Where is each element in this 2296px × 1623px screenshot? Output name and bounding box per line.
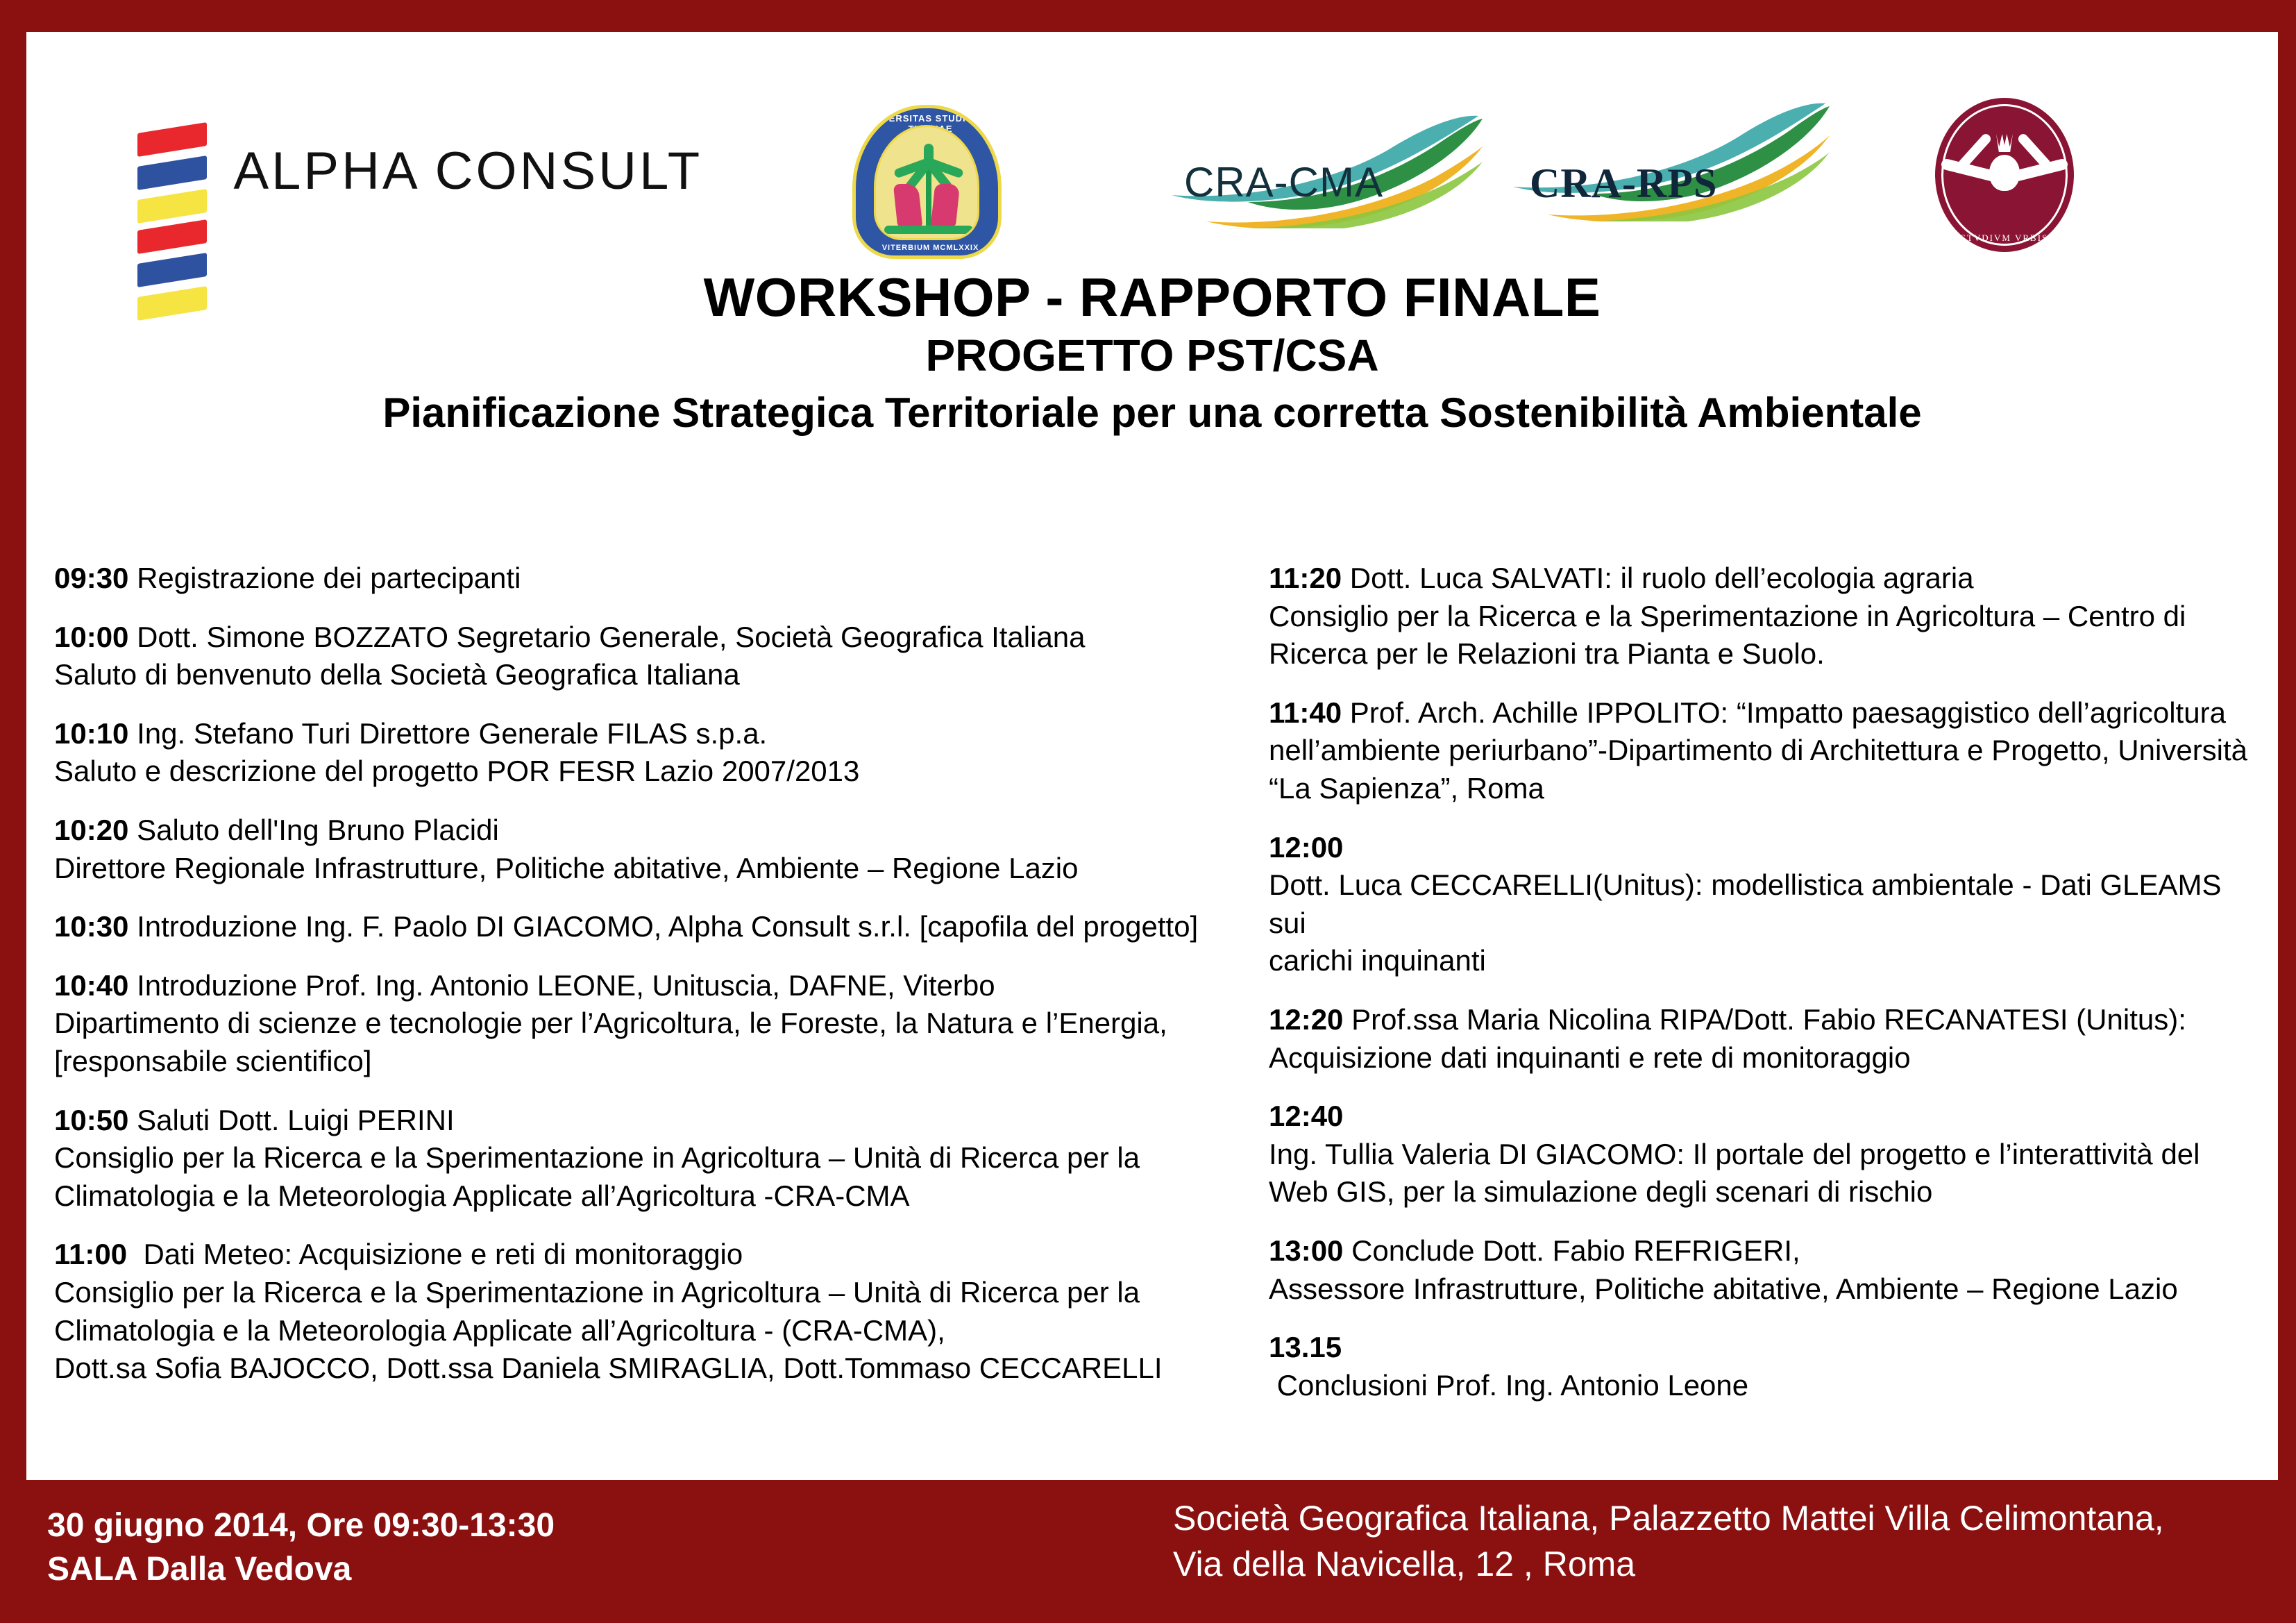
- agenda-slot-text: Saluti Dott. Luigi PERINI: [128, 1104, 454, 1136]
- agenda-slot: 12:20 Prof.ssa Maria Nicolina RIPA/Dott.…: [1269, 1001, 2254, 1077]
- agenda-time-label: 12:20: [1269, 1003, 1343, 1036]
- agenda-slot-text: Saluto dell'Ing Bruno Placidi: [128, 814, 498, 846]
- agenda-time-label: 10:30: [54, 910, 128, 943]
- agenda-slot-line: carichi inquinanti: [1269, 942, 2254, 980]
- agenda-slot-line: Dott.sa Sofia BAJOCCO, Dott.ssa Daniela …: [54, 1349, 1262, 1388]
- agenda-slot: 10:40 Introduzione Prof. Ing. Antonio LE…: [54, 967, 1262, 1081]
- agenda-slot-line: Ing. Tullia Valeria DI GIACOMO: Il porta…: [1269, 1136, 2254, 1174]
- footer-venue-line-2: Via della Navicella, 12 , Roma: [1173, 1541, 2164, 1587]
- agenda-slot-line: Direttore Regionale Infrastrutture, Poli…: [54, 850, 1262, 888]
- sapienza-face-icon: [1989, 155, 2020, 191]
- agenda-slot-headline: 10:10 Ing. Stefano Turi Direttore Genera…: [54, 715, 1262, 753]
- alpha-flag-left-icon: [137, 122, 207, 219]
- cra-cma-wordmark: CRA-CMA: [1184, 158, 1383, 206]
- crest-bottom-legend: VITERBIUM MCMLXXIX: [856, 244, 1002, 252]
- agenda-slot-text: Dott. Simone BOZZATO Segretario Generale…: [128, 621, 1085, 653]
- agenda-slot: 12:40Ing. Tullia Valeria DI GIACOMO: Il …: [1269, 1098, 2254, 1211]
- alpha-consult-logo: ALPHA CONSULT: [137, 122, 748, 226]
- agenda-slot: 13:00 Conclude Dott. Fabio REFRIGERI,Ass…: [1269, 1232, 2254, 1308]
- agenda-slot-text: Registrazione dei partecipanti: [128, 562, 521, 594]
- agenda-slot-headline: 10:40 Introduzione Prof. Ing. Antonio LE…: [54, 967, 1262, 1005]
- agenda-slot-text: Prof.ssa Maria Nicolina RIPA/Dott. Fabio…: [1343, 1003, 2186, 1036]
- agenda-slot: 13.15 Conclusioni Prof. Ing. Antonio Leo…: [1269, 1329, 2254, 1404]
- agenda-slot-line: Consiglio per la Ricerca e la Sperimenta…: [54, 1274, 1262, 1312]
- agenda-time-label: 11:40: [1269, 696, 1342, 729]
- page-subtitle: PROGETTO PST/CSA: [26, 330, 2278, 382]
- agenda-slot-headline: 11:20 Dott. Luca SALVATI: il ruolo dell’…: [1269, 560, 2254, 598]
- agenda-slot-time: 13.15: [1269, 1329, 2254, 1367]
- agenda-slot-line: Saluto di benvenuto della Società Geogra…: [54, 656, 1262, 694]
- page-title: WORKSHOP - RAPPORTO FINALE: [26, 268, 2278, 326]
- agenda-slot-line: Conclusioni Prof. Ing. Antonio Leone: [1269, 1367, 2254, 1405]
- agenda-slot-headline: 10:30 Introduzione Ing. F. Paolo DI GIAC…: [54, 908, 1262, 946]
- crest-ground-icon: [884, 226, 973, 234]
- cra-rps-logo: CRA-RPS: [1505, 84, 1831, 223]
- agenda-slot: 10:20 Saluto dell'Ing Bruno PlacidiDiret…: [54, 811, 1262, 887]
- agenda-slot-line: Acquisizione dati inquinanti e rete di m…: [1269, 1039, 2254, 1077]
- title-block: WORKSHOP - RAPPORTO FINALE PROGETTO PST/…: [26, 268, 2278, 437]
- agenda-slot: 11:00 Dati Meteo: Acquisizione e reti di…: [54, 1236, 1262, 1387]
- agenda-slot-line: “La Sapienza”, Roma: [1269, 770, 2254, 808]
- agenda-slot: 10:00 Dott. Simone BOZZATO Segretario Ge…: [54, 619, 1262, 694]
- footer-date-block: 30 giugno 2014, Ore 09:30-13:30 SALA Dal…: [47, 1504, 555, 1592]
- poster-frame: ALPHA CONSULT UNIVERSITAS STUDIORUM TUSC…: [0, 0, 2296, 1623]
- agenda-slot-headline: 12:20 Prof.ssa Maria Nicolina RIPA/Dott.…: [1269, 1001, 2254, 1039]
- agenda-slot: 12:00Dott. Luca CECCARELLI(Unitus): mode…: [1269, 829, 2254, 980]
- agenda-time-label: 13:00: [1269, 1234, 1343, 1267]
- agenda-slot: 11:20 Dott. Luca SALVATI: il ruolo dell’…: [1269, 560, 2254, 673]
- agenda-slot: 09:30 Registrazione dei partecipanti: [54, 560, 1262, 598]
- agenda-slot-line: Consiglio per la Ricerca e la Sperimenta…: [54, 1139, 1262, 1177]
- agenda-time-label: 09:30: [54, 562, 128, 594]
- agenda-slot-text: Conclude Dott. Fabio REFRIGERI,: [1343, 1234, 1800, 1267]
- agenda-slot-line: nell’ambiente periurbano”-Dipartimento d…: [1269, 732, 2254, 770]
- footer-date: 30 giugno 2014, Ore 09:30-13:30: [47, 1504, 555, 1547]
- agenda: 09:30 Registrazione dei partecipanti10:0…: [26, 560, 2278, 1427]
- agenda-time-label: 10:50: [54, 1104, 128, 1136]
- agenda-slot-text: Ing. Stefano Turi Direttore Generale FIL…: [128, 717, 767, 750]
- agenda-slot-headline: 11:00 Dati Meteo: Acquisizione e reti di…: [54, 1236, 1262, 1274]
- agenda-slot-line: Dott. Luca CECCARELLI(Unitus): modellist…: [1269, 866, 2254, 942]
- poster-sheet: ALPHA CONSULT UNIVERSITAS STUDIORUM TUSC…: [26, 32, 2278, 1480]
- cra-cma-logo: CRA-CMA: [1165, 98, 1484, 230]
- agenda-slot-line: Consiglio per la Ricerca e la Sperimenta…: [1269, 598, 2254, 636]
- palm-frond-icon: [924, 144, 934, 167]
- agenda-slot-headline: 10:50 Saluti Dott. Luigi PERINI: [54, 1102, 1262, 1140]
- agenda-slot-time: 12:00: [1269, 829, 2254, 867]
- agenda-time-label: 10:20: [54, 814, 128, 846]
- agenda-time-label: 11:20: [1269, 562, 1342, 594]
- cra-rps-wordmark: CRA-RPS: [1530, 160, 1717, 208]
- page-tagline: Pianificazione Strategica Territoriale p…: [26, 389, 2278, 437]
- agenda-slot-line: Assessore Infrastrutture, Politiche abit…: [1269, 1270, 2254, 1309]
- agenda-column-left: 09:30 Registrazione dei partecipanti10:0…: [54, 560, 1262, 1408]
- agenda-time-label: 11:00: [54, 1238, 127, 1270]
- agenda-slot-line: Dipartimento di scienze e tecnologie per…: [54, 1004, 1262, 1043]
- agenda-slot: 10:30 Introduzione Ing. F. Paolo DI GIAC…: [54, 908, 1262, 946]
- agenda-slot-time: 12:40: [1269, 1098, 2254, 1136]
- agenda-slot: 10:50 Saluti Dott. Luigi PERINIConsiglio…: [54, 1102, 1262, 1216]
- agenda-time-label: 12:00: [1269, 831, 1343, 864]
- footer-venue-line-1: Società Geografica Italiana, Palazzetto …: [1173, 1495, 2164, 1541]
- footer-band: 30 giugno 2014, Ore 09:30-13:30 SALA Dal…: [0, 1480, 2296, 1623]
- agenda-time-label: 12:40: [1269, 1100, 1343, 1132]
- universita-tuscia-crest: UNIVERSITAS STUDIORUM TUSCIAE VITERBIUM …: [852, 105, 1012, 261]
- sapienza-motto: STVDIVM VRBIS: [1935, 233, 2074, 244]
- crest-shield-icon: UNIVERSITAS STUDIORUM TUSCIAE VITERBIUM …: [852, 105, 1002, 259]
- agenda-slot-line: Ricerca per le Relazioni tra Pianta e Su…: [1269, 635, 2254, 673]
- footer-venue-block: Società Geografica Italiana, Palazzetto …: [1173, 1495, 2164, 1587]
- agenda-slot: 11:40 Prof. Arch. Achille IPPOLITO: “Imp…: [1269, 694, 2254, 808]
- agenda-slot-headline: 10:20 Saluto dell'Ing Bruno Placidi: [54, 811, 1262, 850]
- lion-right-icon: [931, 184, 961, 227]
- footer-room: SALA Dalla Vedova: [47, 1547, 555, 1591]
- lion-left-icon: [893, 184, 923, 227]
- agenda-slot-text: Introduzione Prof. Ing. Antonio LEONE, U…: [128, 969, 995, 1002]
- agenda-slot-headline: 11:40 Prof. Arch. Achille IPPOLITO: “Imp…: [1269, 694, 2254, 732]
- agenda-slot: 10:10 Ing. Stefano Turi Direttore Genera…: [54, 715, 1262, 791]
- agenda-slot-line: [responsabile scientifico]: [54, 1043, 1262, 1081]
- agenda-column-right: 11:20 Dott. Luca SALVATI: il ruolo dell’…: [1269, 560, 2254, 1425]
- agenda-time-label: 10:00: [54, 621, 128, 653]
- agenda-time-label: 10:10: [54, 717, 128, 750]
- sapienza-logo: STVDIVM VRBIS: [1935, 98, 2088, 258]
- agenda-slot-text: Dati Meteo: Acquisizione e reti di monit…: [127, 1238, 743, 1270]
- agenda-slot-line: Climatologia e la Meteorologia Applicate…: [54, 1177, 1262, 1216]
- agenda-time-label: 13.15: [1269, 1331, 1342, 1363]
- agenda-slot-line: Saluto e descrizione del progetto POR FE…: [54, 752, 1262, 791]
- agenda-slot-headline: 09:30 Registrazione dei partecipanti: [54, 560, 1262, 598]
- agenda-slot-text: Dott. Luca SALVATI: il ruolo dell’ecolog…: [1342, 562, 1973, 594]
- logo-strip: ALPHA CONSULT UNIVERSITAS STUDIORUM TUSC…: [26, 32, 2278, 261]
- agenda-slot-text: Prof. Arch. Achille IPPOLITO: “Impatto p…: [1342, 696, 2226, 729]
- agenda-time-label: 10:40: [54, 969, 128, 1002]
- sapienza-seal-icon: STVDIVM VRBIS: [1935, 98, 2074, 252]
- agenda-slot-text: Introduzione Ing. F. Paolo DI GIACOMO, A…: [128, 910, 1198, 943]
- agenda-slot-headline: 13:00 Conclude Dott. Fabio REFRIGERI,: [1269, 1232, 2254, 1270]
- agenda-slot-line: Climatologia e la Meteorologia Applicate…: [54, 1312, 1262, 1350]
- crest-inner-field: [874, 125, 979, 240]
- agenda-slot-line: Web GIS, per la simulazione degli scenar…: [1269, 1173, 2254, 1211]
- alpha-consult-wordmark: ALPHA CONSULT: [233, 141, 702, 201]
- agenda-slot-headline: 10:00 Dott. Simone BOZZATO Segretario Ge…: [54, 619, 1262, 657]
